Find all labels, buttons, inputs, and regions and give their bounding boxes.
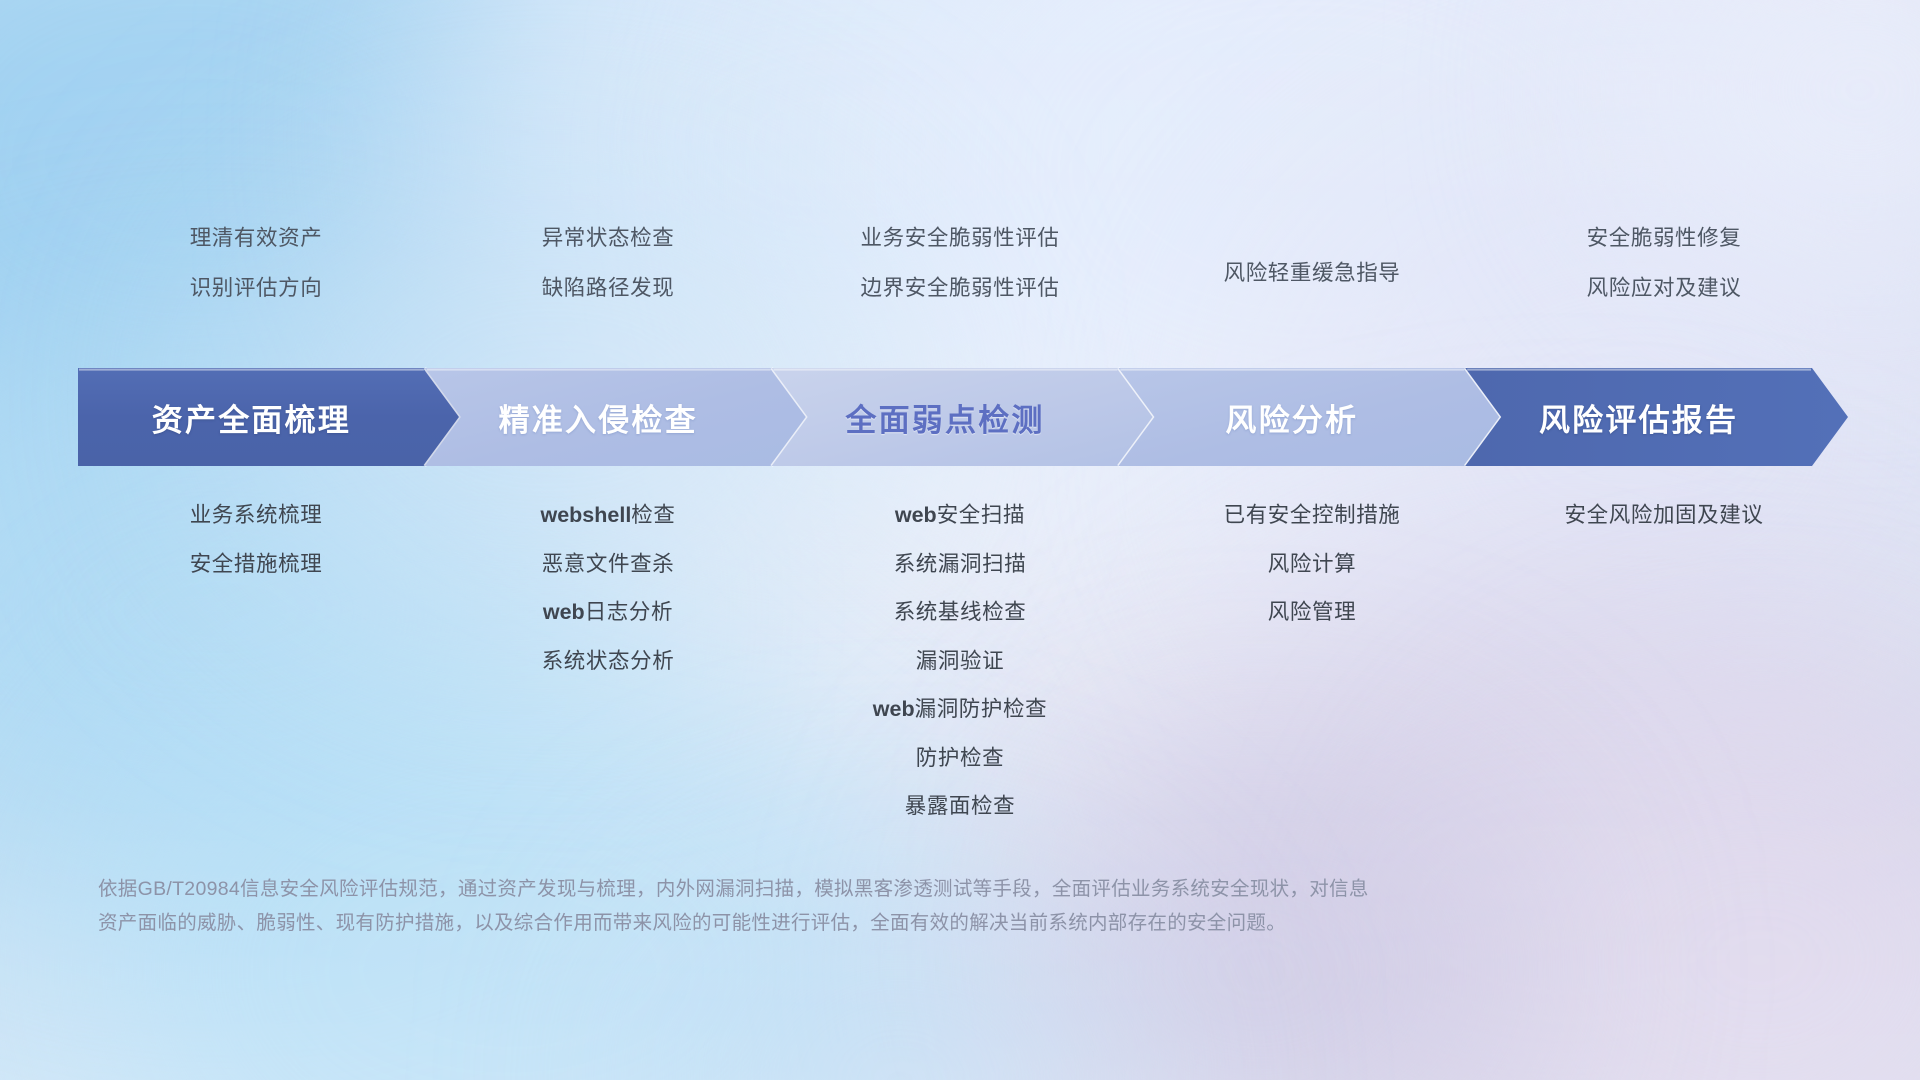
footer-description: 依据GB/T20984信息安全风险评估规范，通过资产发现与梳理，内外网漏洞扫描，… [98, 872, 1698, 940]
chevron-risk-report[interactable] [1465, 368, 1848, 466]
stage-bottom-lists-row: 业务系统梳理安全措施梳理webshell检查恶意文件查杀web日志分析系统状态分… [80, 505, 1840, 845]
stage-top-cell-risk-report: 安全脆弱性修复风险应对及建议 [1488, 228, 1840, 327]
stage-top-cell-risk-analysis: 风险轻重缓急指导 [1136, 228, 1488, 327]
cjk-token: 日志分析 [585, 600, 673, 624]
stage-top-item: 风险轻重缓急指导 [1224, 263, 1401, 285]
stage-top-item: 缺陷路径发现 [542, 278, 675, 300]
stage-top-item: 异常状态检查 [542, 228, 675, 250]
latin-token: webshell [540, 503, 631, 527]
cjk-token: 漏洞防护检查 [915, 697, 1048, 721]
latin-token: web [543, 600, 585, 624]
stage-top-item: 风险应对及建议 [1587, 278, 1742, 300]
stage-bottom-cell-intrusion-check: webshell检查恶意文件查杀web日志分析系统状态分析 [432, 505, 784, 699]
footer-line-1: 依据GB/T20984信息安全风险评估规范，通过资产发现与梳理，内外网漏洞扫描，… [98, 872, 1698, 906]
stage-bottom-item: 恶意文件查杀 [542, 554, 675, 576]
stage-bottom-item: 防护检查 [916, 748, 1004, 770]
chevron-risk-analysis[interactable] [1118, 368, 1501, 466]
stage-bottom-item: 风险管理 [1268, 602, 1356, 624]
chevron-band-svg [78, 368, 1848, 466]
stage-bottom-item: web漏洞防护检查 [873, 699, 1047, 721]
stage-bottom-item: 系统状态分析 [542, 651, 675, 673]
stage-bottom-item: 安全风险加固及建议 [1565, 505, 1764, 527]
footer-line-2: 资产面临的威胁、脆弱性、现有防护措施，以及综合作用而带来风险的可能性进行评估，全… [98, 906, 1698, 940]
stage-bottom-item: 安全措施梳理 [190, 554, 323, 576]
stage-bottom-item: web日志分析 [543, 602, 673, 624]
stage-bottom-cell-weakness-detection: web安全扫描系统漏洞扫描系统基线检查漏洞验证web漏洞防护检查防护检查暴露面检… [784, 505, 1136, 845]
stage-bottom-item: 业务系统梳理 [190, 505, 323, 527]
stage-bottom-cell-risk-analysis: 已有安全控制措施风险计算风险管理 [1136, 505, 1488, 651]
cjk-token: 安全扫描 [937, 503, 1025, 527]
latin-token: web [895, 503, 937, 527]
stage-top-labels-row: 理清有效资产识别评估方向异常状态检查缺陷路径发现业务安全脆弱性评估边界安全脆弱性… [80, 228, 1840, 312]
stage-top-cell-asset-inventory: 理清有效资产识别评估方向 [80, 228, 432, 327]
process-flow-diagram: 理清有效资产识别评估方向异常状态检查缺陷路径发现业务安全脆弱性评估边界安全脆弱性… [0, 0, 1920, 1080]
chevron-asset-inventory[interactable] [78, 368, 461, 466]
stage-bottom-item: 系统漏洞扫描 [894, 554, 1027, 576]
stage-top-item: 边界安全脆弱性评估 [861, 278, 1060, 300]
chevron-band: 资产全面梳理精准入侵检查全面弱点检测风险分析风险评估报告 [78, 368, 1848, 466]
stage-bottom-item: 已有安全控制措施 [1224, 505, 1401, 527]
stage-bottom-item: 漏洞验证 [916, 651, 1004, 673]
stage-bottom-item: 暴露面检查 [905, 796, 1016, 818]
stage-bottom-item: 风险计算 [1268, 554, 1356, 576]
cjk-token: 检查 [631, 503, 675, 527]
stage-top-cell-intrusion-check: 异常状态检查缺陷路径发现 [432, 228, 784, 327]
stage-bottom-cell-asset-inventory: 业务系统梳理安全措施梳理 [80, 505, 432, 602]
chevron-weakness-detection[interactable] [772, 368, 1155, 466]
stage-top-item: 安全脆弱性修复 [1587, 228, 1742, 250]
stage-top-cell-weakness-detection: 业务安全脆弱性评估边界安全脆弱性评估 [784, 228, 1136, 327]
stage-top-item: 理清有效资产 [190, 228, 323, 250]
stage-bottom-item: web安全扫描 [895, 505, 1025, 527]
stage-top-item: 识别评估方向 [190, 278, 323, 300]
stage-bottom-cell-risk-report: 安全风险加固及建议 [1488, 505, 1840, 554]
chevron-intrusion-check[interactable] [425, 368, 808, 466]
stage-top-item: 业务安全脆弱性评估 [861, 228, 1060, 250]
stage-bottom-item: webshell检查 [540, 505, 675, 527]
latin-token: web [873, 697, 915, 721]
stage-bottom-item: 系统基线检查 [894, 602, 1027, 624]
